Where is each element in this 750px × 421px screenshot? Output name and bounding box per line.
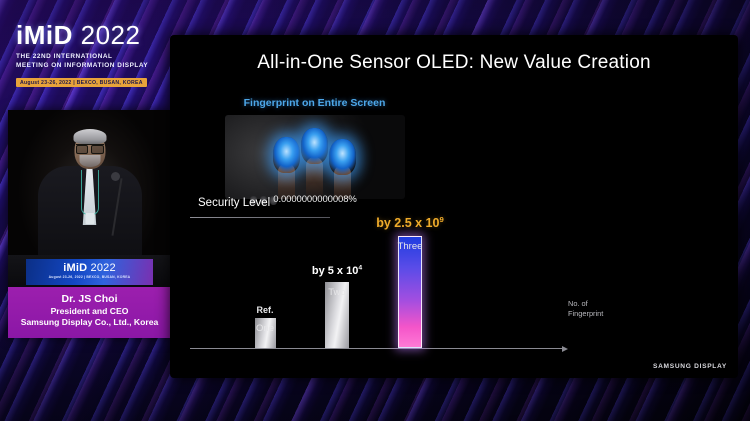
speaker-beard — [79, 155, 100, 167]
chart-plot-area: Ref. One by 5 x 104 Two by 2.5 x 109 Thr… — [190, 221, 590, 349]
chart-x-axis-title: No. of Fingerprint — [568, 299, 640, 319]
security-level-chart: Security Level Ref. One by 5 x 104 Two b… — [180, 195, 728, 375]
podium-sign-subtitle: August 23-26, 2022 | BEXCO, BUSAN, KOREA — [49, 275, 131, 279]
speaker-organization: Samsung Display Co., Ltd., Korea — [8, 317, 171, 328]
presentation-slide[interactable]: All-in-One Sensor OLED: New Value Creati… — [170, 35, 738, 378]
speaker-lanyard — [81, 170, 99, 215]
fingerprint-icon — [329, 139, 356, 175]
microphone-icon — [111, 172, 120, 181]
chart-tick-one: One — [256, 323, 274, 334]
chart-bar-group: by 2.5 x 109 Three — [383, 236, 437, 348]
chart-bar-three — [398, 236, 422, 348]
chart-tick-two: Two — [328, 287, 345, 298]
samsung-display-watermark: SAMSUNG DISPLAY — [653, 363, 727, 370]
speaker-glasses — [76, 144, 104, 152]
event-logo: iMiD 2022 THE 22ND INTERNATIONAL MEETING… — [16, 22, 176, 89]
event-logo-subtitle: THE 22ND INTERNATIONAL MEETING ON INFORM… — [16, 52, 176, 71]
event-logo-title-brand: iMiD — [16, 20, 73, 50]
event-logo-date-banner: August 23-26, 2022 | BEXCO, BUSAN, KOREA — [16, 78, 147, 87]
speaker-nameplate: Dr. JS Choi President and CEO Samsung Di… — [8, 287, 171, 338]
speaker-video-feed[interactable]: iMiD 2022 August 23-26, 2022 | BEXCO, BU… — [8, 110, 171, 287]
podium-sign-brand: iMiD — [63, 262, 87, 274]
event-logo-subtitle-line2: MEETING ON INFORMATION DISPLAY — [16, 61, 176, 70]
event-logo-title: iMiD 2022 — [16, 22, 176, 48]
chart-bar-group: by 5 x 104 Two — [310, 282, 364, 348]
podium-sign-title: iMiD 2022 — [63, 262, 116, 274]
chart-x-axis-arrow-icon — [562, 346, 568, 352]
event-logo-subtitle-line1: THE 22ND INTERNATIONAL — [16, 52, 176, 61]
speaker-role: President and CEO — [8, 306, 171, 317]
chart-x-axis-title-line1: No. of — [568, 299, 640, 309]
chart-tick-three: Three — [398, 241, 423, 252]
fingerprint-icon — [301, 128, 328, 164]
speaker-name: Dr. JS Choi — [8, 293, 171, 306]
chart-x-axis-title-line2: Fingerprint — [568, 309, 640, 319]
podium-sign: iMiD 2022 August 23-26, 2022 | BEXCO, BU… — [26, 259, 153, 285]
fingerprint-caption: Fingerprint on Entire Screen — [222, 97, 407, 109]
chart-bar-annotation-three: by 2.5 x 109 — [376, 216, 444, 230]
speaker-hair — [73, 129, 106, 144]
speaker-badge — [85, 213, 94, 224]
fingerprint-icon — [273, 137, 300, 173]
podium: iMiD 2022 August 23-26, 2022 | BEXCO, BU… — [8, 255, 171, 287]
speaker-video-panel[interactable]: iMiD 2022 August 23-26, 2022 | BEXCO, BU… — [8, 110, 171, 338]
slide-title: All-in-One Sensor OLED: New Value Creati… — [170, 52, 738, 74]
chart-bar-annotation-two: by 5 x 104 — [312, 265, 362, 277]
chart-underline-rule — [190, 217, 330, 218]
chart-bar-annotation-one: Ref. — [256, 305, 273, 315]
chart-bar-group: Ref. One — [238, 318, 292, 348]
fingerprint-photo — [225, 115, 405, 199]
chart-y-axis-label: Security Level — [198, 197, 270, 209]
event-logo-title-year: 2022 — [81, 20, 141, 50]
podium-sign-year: 2022 — [91, 262, 116, 274]
chart-x-axis — [190, 348, 564, 349]
